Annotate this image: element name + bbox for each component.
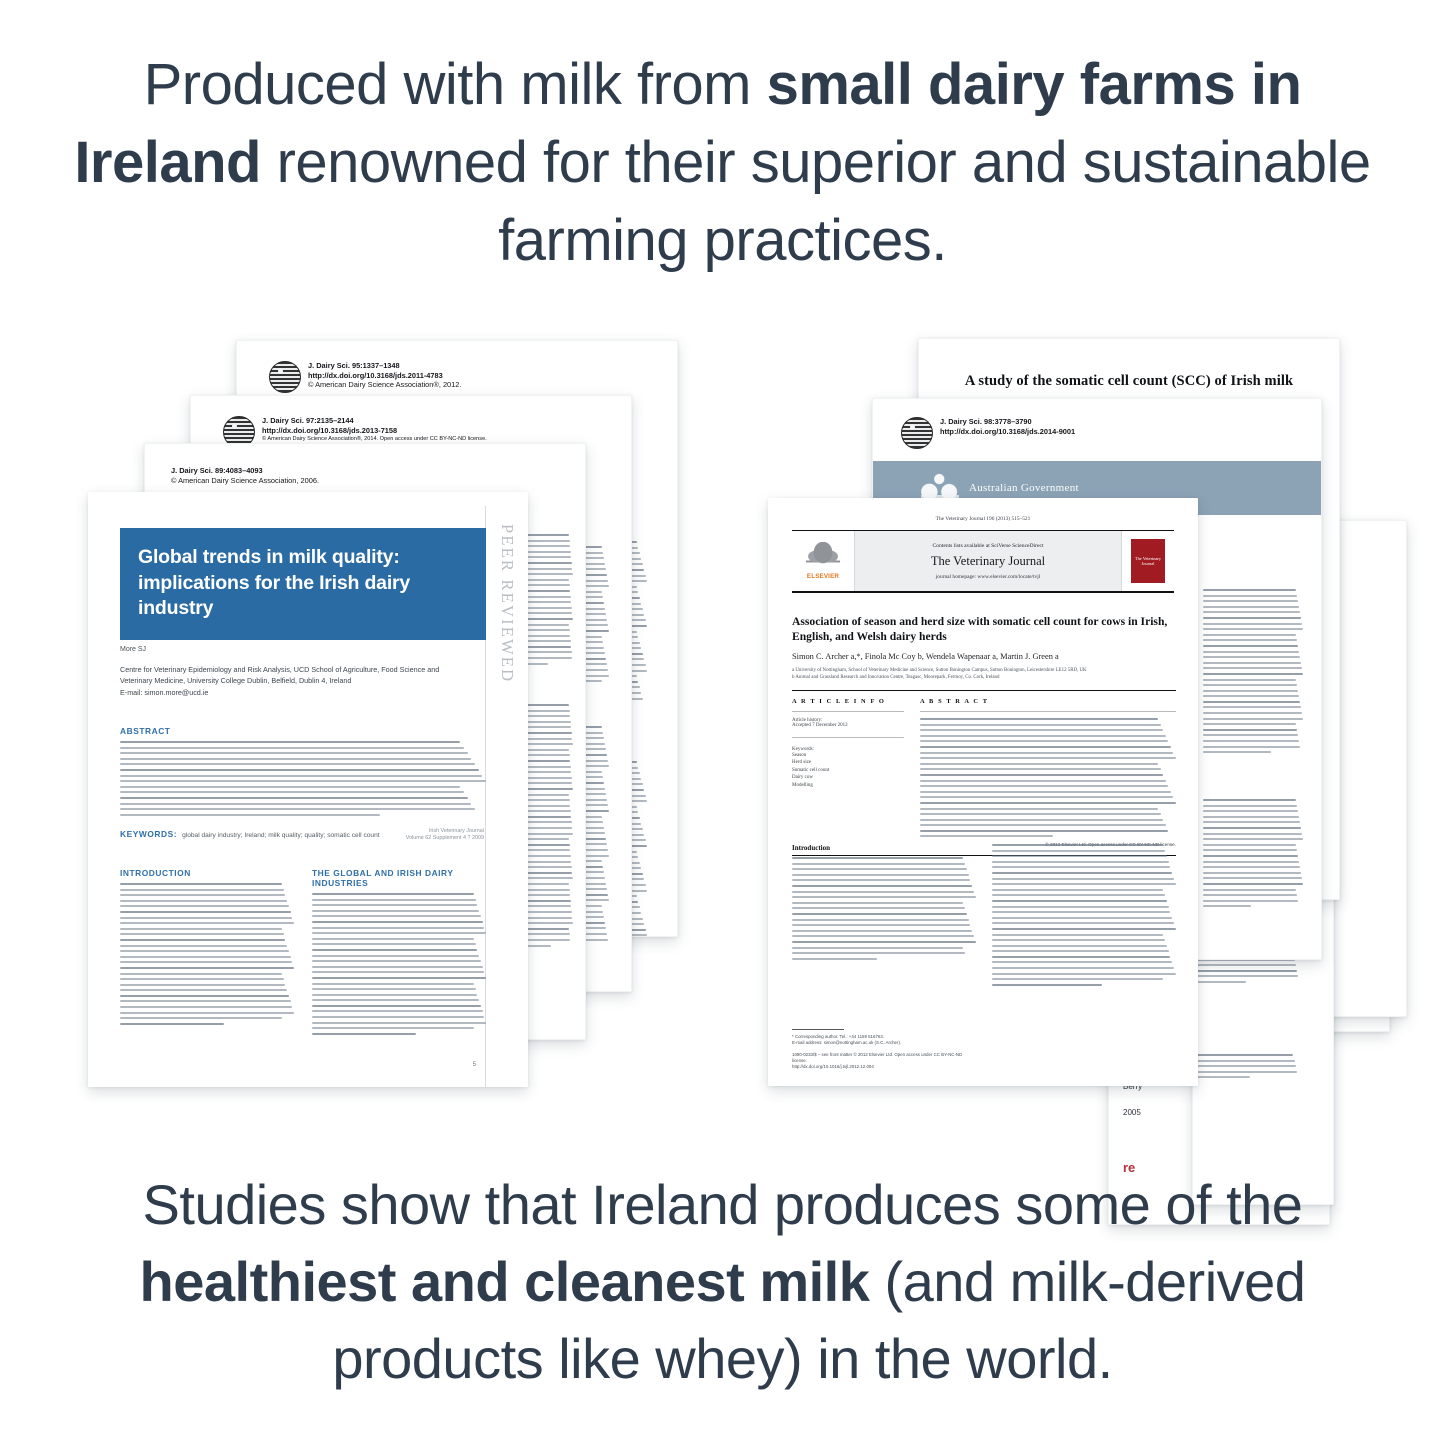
vetj-cover-thumbnail: The Veterinary Journal bbox=[1121, 531, 1174, 591]
column-heading: THE GLOBAL AND IRISH DAIRY INDUSTRIES bbox=[312, 868, 486, 888]
column-introduction: INTRODUCTION bbox=[120, 868, 294, 1038]
citation-doi: http://dx.doi.org/10.3168/jds.2014-9001 bbox=[940, 427, 1075, 437]
vetj-keywords-list: SeasonHerd sizeSomatic cell countDairy c… bbox=[792, 752, 904, 789]
vetj-body-column-1: Introduction bbox=[792, 844, 976, 989]
citation-copyright: © American Dairy Science Association®, 2… bbox=[308, 380, 461, 390]
column-text bbox=[120, 883, 294, 1025]
vetj-masthead: ELSEVIER Contents lists available at Sci… bbox=[792, 530, 1174, 593]
abstract-heading: ABSTRACT bbox=[120, 726, 486, 736]
citation-journal: J. Dairy Sci. 98:3778–3790 bbox=[940, 417, 1075, 427]
elsevier-wordmark: ELSEVIER bbox=[807, 573, 839, 580]
vetj-body-column-2 bbox=[992, 844, 1176, 989]
vetj-article-history: Accepted 7 December 2012 bbox=[792, 723, 904, 728]
filler-text-col bbox=[1203, 589, 1303, 757]
paper-author: More SJ bbox=[120, 646, 146, 653]
citation-journal: J. Dairy Sci. 97:2135–2144 bbox=[262, 416, 487, 426]
elsevier-tree-icon bbox=[806, 542, 840, 572]
divider bbox=[792, 711, 904, 712]
citation-doi: http://dx.doi.org/10.3168/jds.2011-4783 bbox=[308, 371, 461, 381]
dairy-science-globe-icon bbox=[901, 417, 933, 449]
vetj-body-text bbox=[992, 844, 1176, 986]
vetj-introduction-heading: Introduction bbox=[792, 844, 976, 852]
vetj-article-info-heading: A R T I C L E I N F O bbox=[792, 698, 904, 705]
vetj-abstract: A B S T R A C T © 2012 Elsevier Ltd. Ope… bbox=[920, 698, 1176, 847]
vetj-issn-line: 1090-0233/$ – see front matter © 2012 El… bbox=[792, 1052, 972, 1070]
vetj-paper-affiliations: a University of Nottingham, School of Ve… bbox=[792, 668, 1176, 682]
divider bbox=[792, 1029, 844, 1030]
vetj-footnote-text: * Corresponding author. Tel.: +44 1159 5… bbox=[792, 1034, 972, 1046]
paper-affiliation: Centre for Veterinary Epidemiology and R… bbox=[120, 664, 450, 698]
vetj-homepage: journal homepage: www.elsevier.com/locat… bbox=[936, 574, 1040, 580]
vetj-body-text bbox=[792, 857, 976, 960]
vetj-journal-name: The Veterinary Journal bbox=[931, 554, 1045, 569]
vetj-footnote: * Corresponding author. Tel.: +44 1159 5… bbox=[792, 1029, 972, 1070]
divider bbox=[920, 711, 1176, 712]
abstract-section: ABSTRACT bbox=[120, 726, 486, 819]
column-heading: INTRODUCTION bbox=[120, 868, 294, 878]
vetj-paper-authors: Simon C. Archer a,*, Finola Mc Coy b, We… bbox=[792, 652, 1176, 661]
filler-text-col bbox=[1193, 1054, 1301, 1082]
vetj-abstract-text bbox=[920, 718, 1176, 837]
paper-title: Global trends in milk quality: implicati… bbox=[120, 528, 486, 640]
featured-paper-global-trends: PEER REVIEWED Global trends in milk qual… bbox=[88, 492, 528, 1087]
vetj-cover-thumbnail-label: The Veterinary Journal bbox=[1131, 539, 1165, 583]
journal-masthead: J. Dairy Sci. 95:1337–1348 http://dx.doi… bbox=[269, 361, 461, 393]
vetj-top-citation: The Veterinary Journal 196 (2013) 515–52… bbox=[768, 516, 1198, 522]
paper-columns: INTRODUCTION THE GLOBAL AND IRISH DAIRY … bbox=[120, 868, 486, 1038]
peer-reviewed-label: PEER REVIEWED bbox=[497, 524, 517, 683]
featured-paper-body: PEER REVIEWED Global trends in milk qual… bbox=[88, 506, 528, 1077]
column-global-irish-dairy-industries: THE GLOBAL AND IRISH DAIRY INDUSTRIES bbox=[312, 868, 486, 1038]
abstract-text bbox=[120, 741, 486, 816]
citation-copyright: © American Dairy Science Association, 20… bbox=[171, 476, 319, 486]
filler-text-col bbox=[1203, 799, 1303, 911]
journal-masthead: J. Dairy Sci. 98:3778–3790 http://dx.doi… bbox=[901, 417, 1075, 449]
page-number: 5 bbox=[473, 1062, 476, 1068]
column-text bbox=[312, 893, 486, 1035]
vetj-abstract-heading: A B S T R A C T bbox=[920, 698, 1176, 705]
peer-reviewed-rail: PEER REVIEWED bbox=[485, 506, 528, 1087]
vetj-info-abstract-box: A R T I C L E I N F O Article history: A… bbox=[792, 690, 1176, 856]
vetj-body-columns: Introduction bbox=[792, 844, 1176, 989]
featured-paper-veterinary-journal: The Veterinary Journal 196 (2013) 515–52… bbox=[768, 498, 1198, 1086]
citation-block: J. Dairy Sci. 98:3778–3790 http://dx.doi… bbox=[940, 417, 1075, 436]
vetj-masthead-center: Contents lists available at SciVerse Sci… bbox=[855, 531, 1121, 591]
journal-footer: Irish Veterinary Journal Volume 62 Suppl… bbox=[388, 828, 484, 842]
scc-study-title: A study of the somatic cell count (SCC) … bbox=[919, 373, 1339, 390]
keywords-text: global dairy industry; Ireland; milk qua… bbox=[182, 832, 380, 839]
citation-doi: http://dx.doi.org/10.3168/jds.2013-7158 bbox=[262, 426, 487, 436]
vetj-paper-title: Association of season and herd size with… bbox=[792, 614, 1176, 644]
headline-bottom: Studies show that Ireland produces some … bbox=[70, 1166, 1375, 1397]
vetj-article-info: A R T I C L E I N F O Article history: A… bbox=[792, 698, 904, 847]
headline-top-text: Produced with milk from small dairy farm… bbox=[74, 52, 1370, 273]
vetj-contents-line: Contents lists available at SciVerse Sci… bbox=[932, 543, 1043, 549]
citation-block: J. Dairy Sci. 97:2135–2144 http://dx.doi… bbox=[262, 416, 487, 445]
headline-bottom-text: Studies show that Ireland produces some … bbox=[140, 1173, 1306, 1390]
citation-journal: J. Dairy Sci. 89:4083–4093 bbox=[171, 466, 319, 476]
citation-journal: J. Dairy Sci. 95:1337–1348 bbox=[308, 361, 461, 371]
divider bbox=[792, 737, 904, 738]
elsevier-logo: ELSEVIER bbox=[792, 531, 855, 591]
australian-government-label: Australian Government bbox=[969, 482, 1079, 494]
headline-top: Produced with milk from small dairy farm… bbox=[70, 46, 1375, 280]
citation-block: J. Dairy Sci. 89:4083–4093 © American Da… bbox=[171, 466, 319, 485]
keywords-heading: KEYWORDS: bbox=[120, 829, 177, 839]
citation-block: J. Dairy Sci. 95:1337–1348 http://dx.doi… bbox=[308, 361, 461, 390]
dairy-science-globe-icon bbox=[269, 361, 301, 393]
